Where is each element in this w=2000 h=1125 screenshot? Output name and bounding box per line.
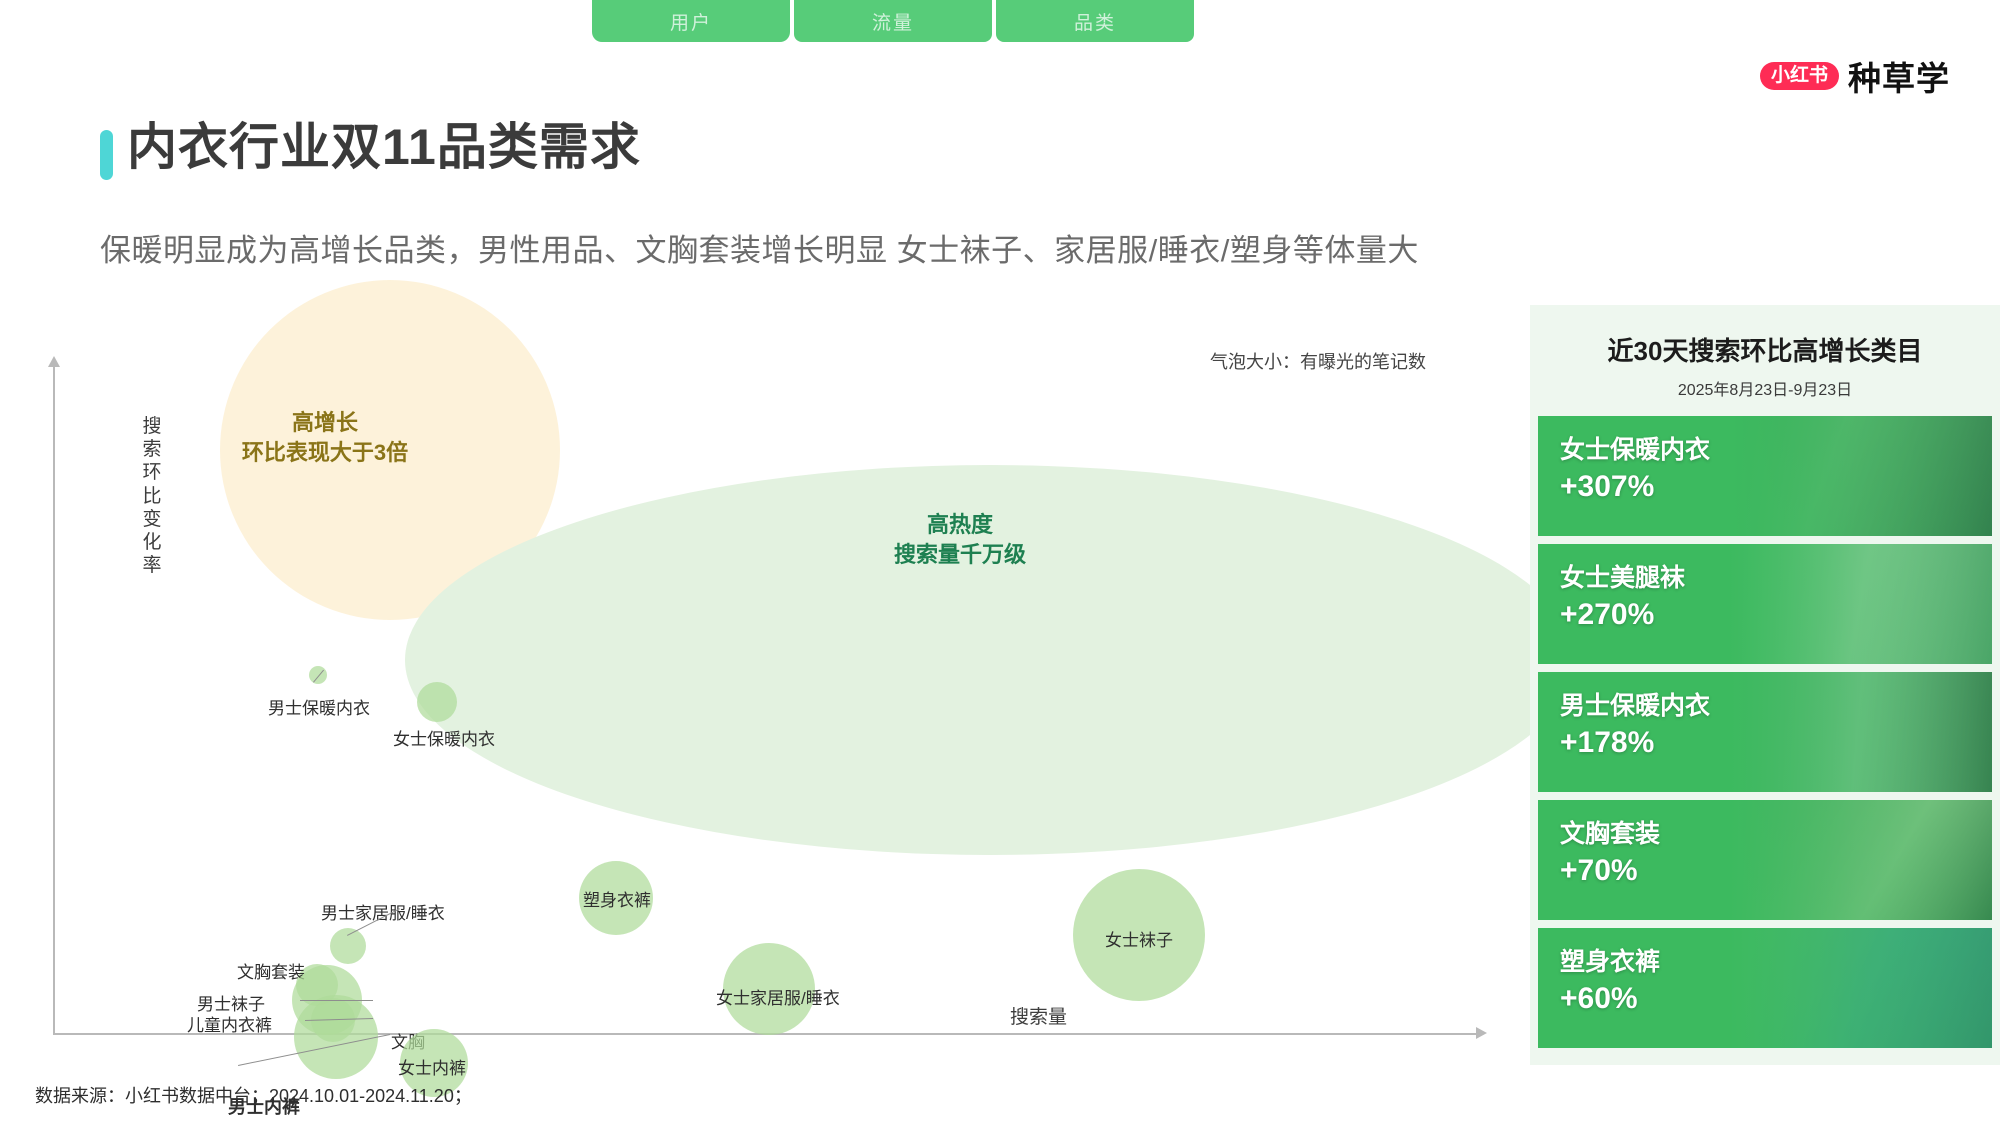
y-axis-label: 搜索环比变化率 [140,415,164,577]
x-axis-arrow [1476,1027,1487,1039]
bubble-文胸[interactable] [294,995,378,1079]
zone-high-heat-sub: 搜索量千万级 [845,540,1075,570]
bubble-label-女士家居服/睡衣: 女士家居服/睡衣 [716,984,840,1009]
page-title-group: 内衣行业双11品类需求 [100,122,641,180]
bubble-label-女士袜子: 女士袜子 [1105,926,1173,951]
zone-high-heat-label: 高热度 搜索量千万级 [845,510,1075,569]
bubble-label-男士家居服/睡衣: 男士家居服/睡衣 [321,899,445,924]
bubble-label-文胸套装: 文胸套装 [237,958,305,983]
panel-card-list: 女士保暖内衣+307%女士美腿袜+270%男士保暖内衣+178%文胸套装+70%… [1530,416,2000,1048]
panel-title: 近30天搜索环比高增长类目 [1530,331,2000,368]
bubble-label-女士保暖内衣: 女士保暖内衣 [393,725,495,750]
high-growth-panel: 近30天搜索环比高增长类目 2025年8月23日-9月23日 女士保暖内衣+30… [1530,305,2000,1065]
tab-users[interactable]: 用户 [592,0,790,42]
card-growth-value: +60% [1560,981,1992,1016]
tab-category[interactable]: 品类 [996,0,1194,42]
panel-card-塑身衣裤[interactable]: 塑身衣裤+60% [1538,928,1992,1048]
card-text: 文胸套装+70% [1538,800,1992,888]
card-growth-value: +178% [1560,725,1992,760]
card-category-name: 文胸套装 [1560,820,1992,850]
zone-high-growth-label: 高增长 环比表现大于3倍 [210,408,440,467]
card-category-name: 女士美腿袜 [1560,564,1992,594]
card-text: 男士保暖内衣+178% [1538,672,1992,760]
zone-high-growth-sub: 环比表现大于3倍 [210,438,440,468]
card-category-name: 塑身衣裤 [1560,948,1992,978]
card-text: 女士保暖内衣+307% [1538,416,1992,504]
card-category-name: 男士保暖内衣 [1560,692,1992,722]
bubble-label-女士内裤: 女士内裤 [398,1054,466,1079]
x-axis-label: 搜索量 [1010,1002,1067,1029]
leader-line-男士袜子 [300,1000,373,1001]
panel-date-range: 2025年8月23日-9月23日 [1530,376,2000,400]
card-category-name: 女士保暖内衣 [1560,436,1992,466]
page-subtitle: 保暖明显成为高增长品类，男性用品、文胸套装增长明显 女士袜子、家居服/睡衣/塑身… [100,225,1419,270]
y-axis-arrow [48,356,60,367]
panel-card-男士保暖内衣[interactable]: 男士保暖内衣+178% [1538,672,1992,792]
bubble-size-note: 气泡大小：有曝光的笔记数 [1210,348,1426,374]
panel-card-女士美腿袜[interactable]: 女士美腿袜+270% [1538,544,1992,664]
card-text: 塑身衣裤+60% [1538,928,1992,1016]
bubble-label-儿童内衣裤: 儿童内衣裤 [187,1011,272,1036]
data-source-note: 数据来源：小红书数据中台；2024.10.01-2024.11.20； [35,1082,472,1108]
panel-card-文胸套装[interactable]: 文胸套装+70% [1538,800,1992,920]
top-tab-bar: 用户 流量 品类 [592,0,1194,42]
title-accent-bar [100,130,113,180]
zone-high-heat-title: 高热度 [845,510,1075,540]
bubble-chart: 搜索环比变化率 搜索量 气泡大小：有曝光的笔记数 高增长 环比表现大于3倍 高热… [55,330,1525,1050]
card-text: 女士美腿袜+270% [1538,544,1992,632]
logo-product-name: 种草学 [1848,52,1950,100]
page-title: 内衣行业双11品类需求 [127,122,641,172]
bubble-label-塑身衣裤: 塑身衣裤 [583,886,651,911]
panel-card-女士保暖内衣[interactable]: 女士保暖内衣+307% [1538,416,1992,536]
tab-traffic[interactable]: 流量 [794,0,992,42]
xiaohongshu-logo-icon: 小红书 [1760,62,1839,90]
card-growth-value: +70% [1560,853,1992,888]
brand-logo: 小红书 种草学 [1760,52,1950,100]
y-axis-line [53,365,55,1035]
bubble-label-男士保暖内衣: 男士保暖内衣 [268,694,370,719]
bubble-女士保暖内衣[interactable] [417,682,457,722]
card-growth-value: +307% [1560,469,1992,504]
zone-high-growth-title: 高增长 [210,408,440,438]
card-growth-value: +270% [1560,597,1992,632]
